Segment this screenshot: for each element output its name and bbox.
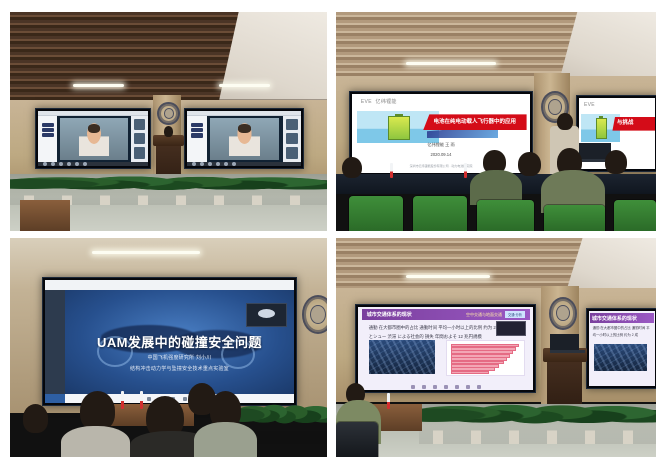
side-screen-traffic: 城市交通体系的现状 通勤 在大都市圈中的占比 通勤时间 平均一小时以上的比例 约… xyxy=(586,308,656,389)
chair-1 xyxy=(349,196,403,231)
collage-panel-top-right: EVE 亿纬锂能 电池在纯电动载人飞行器中的应用 亿纬锂能 王 雨 2020.0… xyxy=(336,12,656,231)
audience-head-5 xyxy=(605,150,627,174)
screen-bezel xyxy=(356,305,535,393)
ceiling-light xyxy=(406,62,496,65)
photo-collage: EVE 亿纬锂能 电池在纯电动载人飞行器中的应用 亿纬锂能 王 雨 2020.0… xyxy=(0,0,664,462)
chair-3 xyxy=(477,200,535,231)
water-bottle-1 xyxy=(390,163,393,178)
audience-shoulders-1 xyxy=(61,426,131,457)
audience-head-3 xyxy=(518,152,540,176)
audience-head-2 xyxy=(80,391,115,430)
screen-bezel xyxy=(587,309,656,388)
collage-panel-bottom-right: 城市交通体系的现状 空中交通与地面交通 交通·分析 通勤 在大都市圈中的占比 通… xyxy=(336,238,656,457)
led-screen-left xyxy=(35,108,151,169)
speaker-head xyxy=(164,126,174,137)
institute-emblem xyxy=(549,297,577,329)
podium-monitor xyxy=(550,334,579,349)
front-desk xyxy=(20,200,71,231)
chair-4 xyxy=(544,205,605,231)
screen-bezel xyxy=(36,109,150,168)
plant-pots xyxy=(419,427,656,443)
collage-panel-bottom-left: UAM发展中的碰撞安全问题 中国飞机强度研究所 刘小川 结构冲击动力学与坠撞安全… xyxy=(10,238,327,457)
screen-bezel xyxy=(185,109,302,168)
ceiling-light xyxy=(92,251,200,254)
water-bottle xyxy=(387,393,390,408)
uam-slide-scene: UAM发展中的碰撞安全问题 中国飞机强度研究所 刘小川 结构冲击动力学与坠撞安全… xyxy=(10,238,327,457)
potted-plant-row xyxy=(419,396,656,444)
screen-bezel xyxy=(43,278,297,405)
water-bottle-2 xyxy=(140,391,143,409)
audience-head-1 xyxy=(342,157,361,179)
chair-front xyxy=(336,422,378,457)
ceiling-light-right xyxy=(219,84,270,87)
ceiling-light-left xyxy=(73,84,124,87)
collage-panel-top-left xyxy=(10,12,327,231)
main-screen-traffic: 城市交通体系的现状 空中交通与地面交通 交通·分析 通勤 在大都市圈中的占比 通… xyxy=(355,304,536,394)
water-bottle-1 xyxy=(121,391,124,409)
led-screen-right xyxy=(184,108,303,169)
traffic-slide-scene: 城市交通体系的现状 空中交通与地面交通 交通·分析 通勤 在大都市圈中的占比 通… xyxy=(336,238,656,457)
chair-2 xyxy=(413,196,467,231)
main-screen-uam: UAM发展中的碰撞安全问题 中国飞机强度研究所 刘小川 结构冲击动力学与坠撞安全… xyxy=(42,277,298,406)
ceiling-light xyxy=(406,275,489,278)
audience-head-1 xyxy=(23,404,48,432)
presenter-head xyxy=(557,113,573,131)
presentation-scene: EVE 亿纬锂能 电池在纯电动载人飞行器中的应用 亿纬锂能 王 雨 2020.0… xyxy=(336,12,656,231)
chair-5 xyxy=(614,200,656,231)
audience-shoulders-3 xyxy=(194,422,257,457)
water-bottle-2 xyxy=(464,163,467,178)
conference-hall-scene xyxy=(10,12,327,231)
